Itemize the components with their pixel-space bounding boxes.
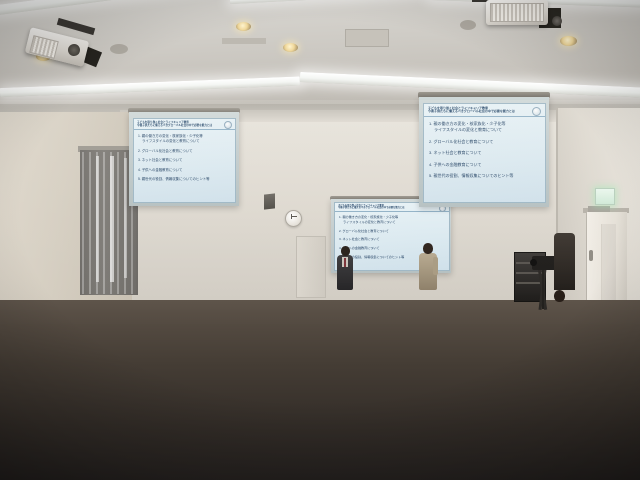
slide-item-number: 2. <box>138 149 141 153</box>
projector-lens <box>552 16 562 26</box>
slide-item-number: 5. <box>429 173 432 178</box>
slide-item-text: 親世代の役割、情報収集についてのヒント等 <box>142 177 210 181</box>
slide-item: 2. グローバル化社会と教育について <box>429 139 542 145</box>
slide-item-text: 親の働き方の変化・核家族化・少子化等 <box>433 121 505 126</box>
slide-item-text: グローバル化社会と教育について <box>433 139 493 144</box>
slide-item-text: 子供への金融教育について <box>142 168 183 172</box>
slide-item: 3. ネット社会と教育について <box>429 150 542 156</box>
lecture-hall-photo: 子どもを取り巻く社会とライフキャリア教育 今後子供たちに備えるべきグローバル社会… <box>0 0 640 480</box>
ceiling-downlight <box>560 36 577 46</box>
slide-item-subtext: ライフスタイルの変化と教育について <box>138 138 232 143</box>
audience-seating-area <box>0 252 640 480</box>
slide-item: 3. ネット社会と教育について <box>138 157 232 162</box>
slide-item-number: 3. <box>429 150 432 155</box>
slide-item-number: 3. <box>138 158 141 162</box>
wall-mounted-speaker <box>264 193 275 209</box>
slide-item-number: 5. <box>138 177 141 181</box>
slide-item-number: 1. <box>429 121 432 126</box>
ceiling-downlight <box>236 22 251 31</box>
slide-item-text: ネット社会と教育について <box>342 237 379 241</box>
projector-vent-grill <box>490 3 544 22</box>
slide-item: 4. 子供への金融教育について <box>429 162 542 168</box>
emergency-exit-sign <box>595 188 615 205</box>
slide-item-subtext: ライフスタイルの変化と教育について <box>339 219 446 224</box>
slide-item-number: 1. <box>138 134 141 138</box>
slide-item: 1. 親の働き方の変化・核家族化・少子化等 ライフスタイルの変化と教育について <box>339 214 446 224</box>
slide-header-line2: 今後子供たちに備えるべきグローバル社会の中で必要な能力とは <box>428 109 515 113</box>
slide-item-text: 子供への金融教育について <box>433 162 481 167</box>
slide-item: 5. 親世代の役割、情報収集についてのヒント等 <box>138 176 232 181</box>
slide-item-text: グローバル化社会と教育について <box>342 229 388 233</box>
wall-clock <box>285 210 302 227</box>
ceiling-access-panel <box>345 29 389 47</box>
slide-right: 子どもを取り巻く社会とライフキャリア教育 今後子供たちに備えるべきグローバル社会… <box>423 103 546 203</box>
slide-header-line2: 今後子供たちに備えるべきグローバル社会の中で必要な能力とは <box>338 207 405 209</box>
slide-item-list: 1. 親の働き方の変化・核家族化・少子化等 ライフスタイルの変化と教育について … <box>424 117 545 179</box>
slide-item-number: 4. <box>138 168 141 172</box>
ceiling-vent <box>110 44 128 54</box>
slide-item-number: 2. <box>429 139 432 144</box>
slide-logo-icon <box>224 121 232 129</box>
slide-logo-icon <box>532 107 541 116</box>
slide-item: 5. 親世代の役割、情報収集についてのヒント等 <box>429 173 542 179</box>
ceiling-downlight <box>283 43 298 52</box>
slide-item-text: グローバル化社会と教育について <box>142 149 193 153</box>
clock-minute-hand <box>292 216 297 217</box>
door-closer <box>588 206 610 212</box>
slide-item-text: ネット社会と教育について <box>142 158 183 162</box>
slide-header-line2: 今後子供たちに備えるべきグローバル社会の中で必要な能力とは <box>137 124 212 127</box>
slide-item: 4. 子供への金融教育について <box>138 167 232 172</box>
ceiling-access-panel <box>222 38 266 44</box>
slide-item: 2. グローバル化社会と教育について <box>138 148 232 153</box>
slide-item: 1. 親の働き方の変化・核家族化・少子化等 ライフスタイルの変化と教育について <box>429 121 542 133</box>
slide-header: 子どもを取り巻く社会とライフキャリア教育 今後子供たちに備えるべきグローバル社会… <box>134 119 235 130</box>
ceiling-vent <box>460 20 476 30</box>
slide-item-text: ネット社会と教育について <box>433 150 481 155</box>
slide-left: 子どもを取り巻く社会とライフキャリア教育 今後子供たちに備えるべきグローバル社会… <box>133 118 236 203</box>
slide-header: 子どもを取り巻く社会とライフキャリア教育 今後子供たちに備えるべきグローバル社会… <box>424 104 545 117</box>
slide-item-number: 4. <box>429 162 432 167</box>
slide-item-text: 親世代の役割、情報収集についてのヒント等 <box>433 173 513 178</box>
slide-item: 1. 親の働き方の変化・核家族化・少子化等 ライフスタイルの変化と教育について <box>138 133 232 143</box>
slide-item: 3. ネット社会と教育について <box>339 236 446 241</box>
slide-item-subtext: ライフスタイルの変化と教育について <box>429 127 542 133</box>
slide-item: 2. グローバル化社会と教育について <box>339 228 446 233</box>
slide-item-list: 1. 親の働き方の変化・核家族化・少子化等 ライフスタイルの変化と教育について … <box>134 130 235 181</box>
